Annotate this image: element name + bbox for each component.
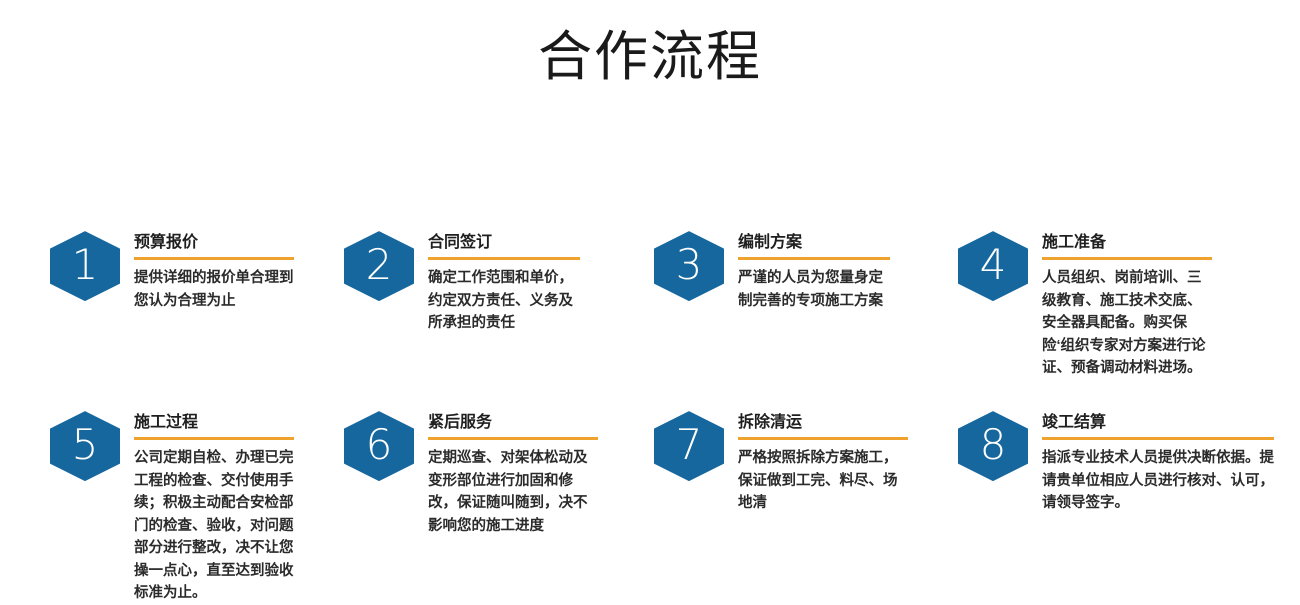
- step-number: 4: [980, 244, 1007, 286]
- step-hexagon-2: 2: [344, 231, 414, 301]
- step-title: 紧后服务: [428, 413, 598, 432]
- step-title: 合同签订: [428, 233, 580, 252]
- step-title: 编制方案: [738, 233, 890, 252]
- step-hexagon-1: 1: [50, 231, 120, 301]
- step-body-3: 编制方案 严谨的人员为您量身定制完善的专项施工方案: [738, 231, 890, 312]
- step-hexagon-3: 3: [654, 231, 724, 301]
- step-description: 指派专业技术人员提供决断依据。提请贵单位相应人员进行核对、认可，请领导签字。: [1042, 447, 1274, 514]
- step-body-1: 预算报价 提供详细的报价单合理到您认为合理为止: [134, 231, 294, 312]
- title-underline: [1042, 437, 1274, 440]
- hexagon-icon: 4: [958, 231, 1028, 301]
- title-underline: [428, 437, 598, 440]
- step-number: 1: [72, 244, 99, 286]
- step-title: 竣工结算: [1042, 413, 1274, 432]
- step-description: 定期巡查、对架体松动及变形部位进行加固和修改，保证随叫随到，决不影响您的施工进度: [428, 447, 598, 537]
- hexagon-icon: 3: [654, 231, 724, 301]
- title-underline: [1042, 257, 1212, 260]
- step-title: 拆除清运: [738, 413, 908, 432]
- hexagon-icon: 8: [958, 411, 1028, 481]
- step-card-6[interactable]: 6 紧后服务 定期巡查、对架体松动及变形部位进行加固和修改，保证随叫随到，决不影…: [344, 411, 598, 537]
- title-underline: [738, 257, 890, 260]
- step-card-8[interactable]: 8 竣工结算 指派专业技术人员提供决断依据。提请贵单位相应人员进行核对、认可，请…: [958, 411, 1274, 515]
- step-hexagon-7: 7: [654, 411, 724, 481]
- step-number: 8: [980, 424, 1007, 466]
- hexagon-icon: 6: [344, 411, 414, 481]
- step-description: 公司定期自检、办理已完工程的检查、交付使用手续；积极主动配合安检部门的检查、验收…: [134, 447, 294, 604]
- hexagon-icon: 5: [50, 411, 120, 481]
- step-card-5[interactable]: 5 施工过程 公司定期自检、办理已完工程的检查、交付使用手续；积极主动配合安检部…: [50, 411, 294, 604]
- step-description: 严格按照拆除方案施工，保证做到工完、料尽、场地清: [738, 447, 908, 514]
- title-underline: [428, 257, 580, 260]
- step-hexagon-8: 8: [958, 411, 1028, 481]
- step-description: 严谨的人员为您量身定制完善的专项施工方案: [738, 267, 890, 312]
- step-hexagon-6: 6: [344, 411, 414, 481]
- step-body-4: 施工准备 人员组织、岗前培训、三级教育、施工技术交底、安全器具配备。购买保险‘组…: [1042, 231, 1212, 380]
- step-body-8: 竣工结算 指派专业技术人员提供决断依据。提请贵单位相应人员进行核对、认可，请领导…: [1042, 411, 1274, 515]
- step-body-7: 拆除清运 严格按照拆除方案施工，保证做到工完、料尽、场地清: [738, 411, 908, 515]
- step-card-3[interactable]: 3 编制方案 严谨的人员为您量身定制完善的专项施工方案: [654, 231, 890, 312]
- step-title: 施工准备: [1042, 233, 1212, 252]
- step-description: 提供详细的报价单合理到您认为合理为止: [134, 267, 294, 312]
- step-title: 预算报价: [134, 233, 294, 252]
- step-number: 5: [72, 424, 99, 466]
- title-underline: [134, 257, 294, 260]
- step-body-2: 合同签订 确定工作范围和单价，约定双方责任、义务及所承担的责任: [428, 231, 580, 335]
- step-description: 确定工作范围和单价，约定双方责任、义务及所承担的责任: [428, 267, 580, 334]
- step-number: 3: [676, 244, 703, 286]
- page-title: 合作流程: [0, 0, 1300, 88]
- title-underline: [134, 437, 294, 440]
- step-card-7[interactable]: 7 拆除清运 严格按照拆除方案施工，保证做到工完、料尽、场地清: [654, 411, 908, 515]
- hexagon-icon: 2: [344, 231, 414, 301]
- step-number: 6: [366, 424, 393, 466]
- step-card-1[interactable]: 1 预算报价 提供详细的报价单合理到您认为合理为止: [50, 231, 294, 312]
- step-number: 2: [366, 244, 393, 286]
- step-title: 施工过程: [134, 413, 294, 432]
- step-number: 7: [676, 424, 703, 466]
- step-card-2[interactable]: 2 合同签订 确定工作范围和单价，约定双方责任、义务及所承担的责任: [344, 231, 580, 335]
- hexagon-icon: 7: [654, 411, 724, 481]
- step-body-6: 紧后服务 定期巡查、对架体松动及变形部位进行加固和修改，保证随叫随到，决不影响您…: [428, 411, 598, 537]
- title-underline: [738, 437, 908, 440]
- step-body-5: 施工过程 公司定期自检、办理已完工程的检查、交付使用手续；积极主动配合安检部门的…: [134, 411, 294, 604]
- step-card-4[interactable]: 4 施工准备 人员组织、岗前培训、三级教育、施工技术交底、安全器具配备。购买保险…: [958, 231, 1212, 380]
- step-hexagon-5: 5: [50, 411, 120, 481]
- hexagon-icon: 1: [50, 231, 120, 301]
- step-hexagon-4: 4: [958, 231, 1028, 301]
- step-description: 人员组织、岗前培训、三级教育、施工技术交底、安全器具配备。购买保险‘组织专家对方…: [1042, 267, 1212, 379]
